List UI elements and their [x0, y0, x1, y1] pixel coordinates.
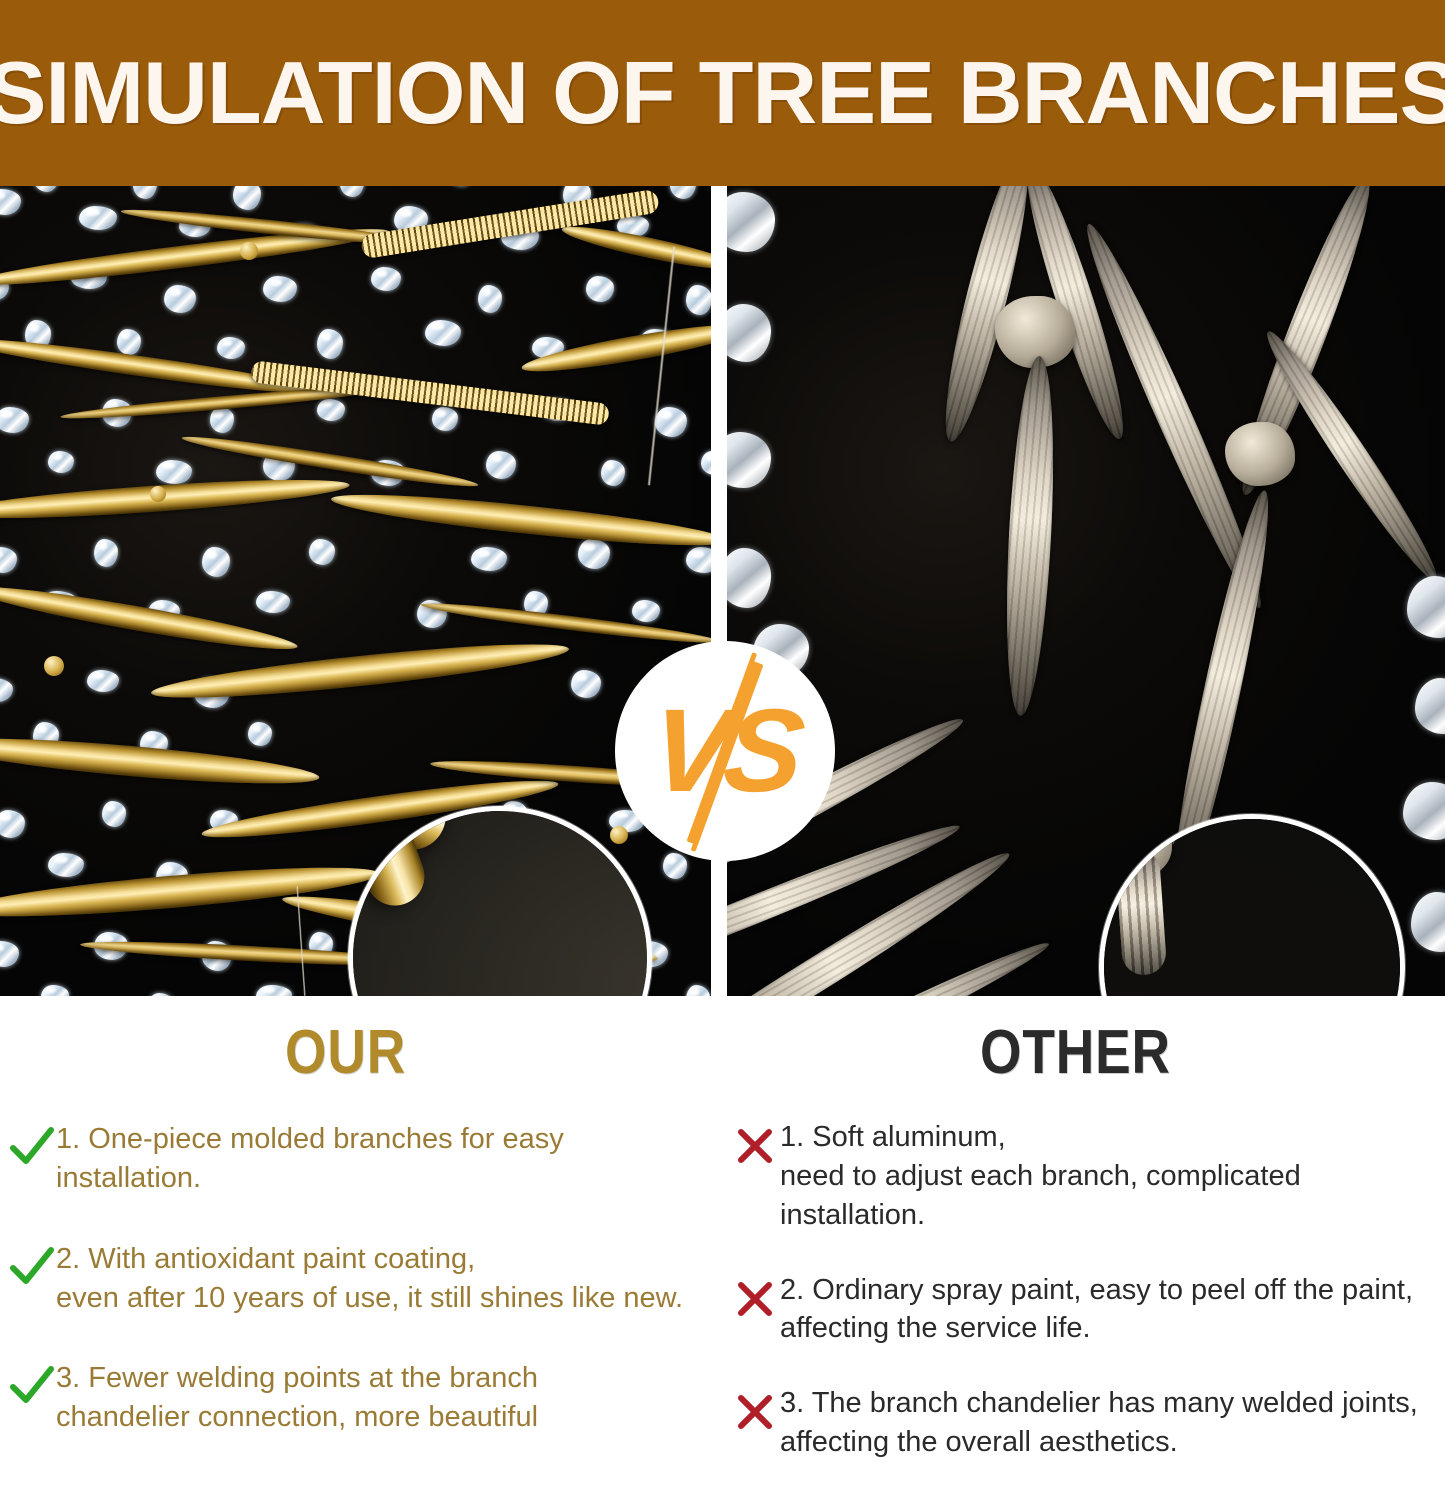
header-banner: SIMULATION OF TREE BRANCHES [0, 0, 1445, 186]
cross-icon [732, 1275, 780, 1321]
cross-icon [732, 1388, 780, 1434]
column-heading-other: OTHER [980, 1022, 1171, 1084]
list-item: 2. With antioxidant paint coating, even … [8, 1240, 708, 1318]
list-item-text: 2. Ordinary spray paint, easy to peel of… [780, 1271, 1413, 1349]
other-drawbacks-list: 1. Soft aluminum, need to adjust each br… [732, 1118, 1438, 1498]
cross-icon [732, 1122, 780, 1168]
our-benefits-list: 1. One-piece molded branches for easy in… [8, 1120, 708, 1479]
left-detail-magnifier [348, 806, 652, 996]
vs-badge: VS [615, 641, 835, 861]
page-title: SIMULATION OF TREE BRANCHES [0, 49, 1445, 137]
list-item: 2. Ordinary spray paint, easy to peel of… [732, 1271, 1438, 1349]
list-item: 3. Fewer welding points at the branch ch… [8, 1359, 708, 1437]
check-icon [8, 1124, 56, 1170]
list-item-text: 3. Fewer welding points at the branch ch… [56, 1359, 538, 1437]
vs-label: VS [646, 692, 804, 810]
list-item: 1. One-piece molded branches for easy in… [8, 1120, 708, 1198]
check-icon [8, 1363, 56, 1409]
list-item-text: 1. One-piece molded branches for easy in… [56, 1120, 708, 1198]
right-detail-magnifier [1099, 814, 1405, 996]
list-item-text: 3. The branch chandelier has many welded… [780, 1384, 1418, 1462]
list-item-text: 1. Soft aluminum, need to adjust each br… [780, 1118, 1438, 1235]
column-heading-our: OUR [285, 1022, 406, 1084]
photo-comparison: VS [0, 186, 1445, 996]
comparison-infographic: SIMULATION OF TREE BRANCHES [0, 0, 1445, 1407]
check-icon [8, 1244, 56, 1290]
list-item: 1. Soft aluminum, need to adjust each br… [732, 1118, 1438, 1235]
right-photo-silver-chandelier [727, 186, 1445, 996]
list-item-text: 2. With antioxidant paint coating, even … [56, 1240, 683, 1318]
list-item: 3. The branch chandelier has many welded… [732, 1384, 1438, 1462]
left-photo-gold-chandelier [0, 186, 711, 996]
